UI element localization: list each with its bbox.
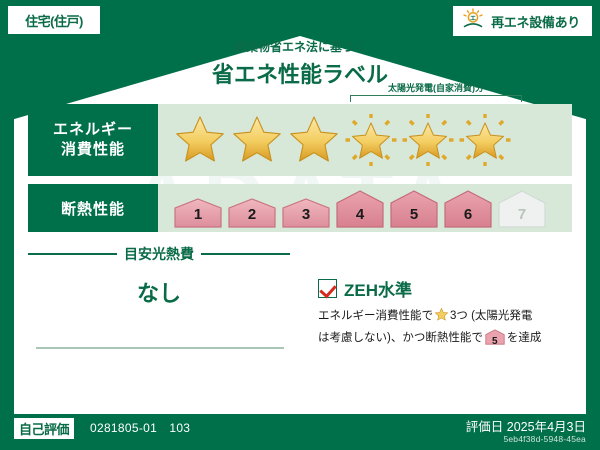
section-vertical-divider [304, 236, 306, 386]
star-solid [172, 112, 228, 168]
insulation-level-scale: 1 2 3 [164, 184, 566, 232]
zeh-title: ZEH水準 [344, 276, 412, 301]
energy-label-line2: 消費性能 [53, 140, 133, 160]
evaluation-date: 評価日 2025年4月3日 [466, 416, 586, 435]
insulation-level-number: 7 [496, 206, 548, 223]
solar-sun-icon: エ [461, 8, 485, 35]
insulation-level-3: 3 [280, 197, 332, 229]
insulation-level-number: 4 [334, 206, 386, 223]
housing-type-tag: 住宅(住戸) [8, 6, 100, 34]
insulation-level-2: 2 [226, 197, 278, 229]
insulation-level-number: 2 [226, 206, 278, 223]
svg-text:エ: エ [470, 15, 476, 22]
renewable-energy-badge: エ 再エネ設備あり [453, 6, 592, 36]
energy-rating-panel: 太陽光発電(自家消費)分 [158, 104, 572, 176]
zeh-text-part1: エネルギー消費性能で [318, 310, 433, 322]
insulation-performance-label: 断熱性能 [28, 184, 158, 232]
label-content: エネルギー 消費性能 太陽光発電(自家消費)分 [14, 36, 586, 414]
zeh-description: エネルギー消費性能で3つ (太陽光発電は考慮しない)、かつ断熱性能で5を達成 [318, 307, 572, 352]
star-solar [343, 112, 399, 168]
insulation-level-6: 6 [442, 189, 494, 229]
zeh-text-part3: は考慮しない)、かつ断熱性能で [318, 332, 483, 344]
solar-generation-bracket: 太陽光発電(自家消費)分 [350, 84, 522, 102]
evaluation-hash: 5eb4f38d-5948-45ea [503, 434, 586, 444]
energy-performance-label: エネルギー 消費性能 [28, 104, 158, 176]
inline-badge-number: 5 [485, 334, 505, 351]
utility-cost-label: 目安光熱費 [124, 244, 194, 264]
insulation-level-1: 1 [172, 197, 224, 229]
utility-cost-value: なし [28, 276, 290, 308]
zeh-heading: ZEH水準 [318, 276, 572, 301]
inline-insulation-badge: 5 [485, 329, 505, 352]
zeh-text-part4: を達成 [507, 332, 542, 344]
insulation-level-4: 4 [334, 189, 386, 229]
insulation-level-7: 7 [496, 189, 548, 229]
zeh-checkbox [318, 279, 337, 298]
insulation-rating-panel: 1 2 3 [158, 184, 572, 232]
renewable-badge-label: 再エネ設備あり [491, 12, 580, 31]
self-evaluation-badge: 自己評価 [14, 418, 74, 439]
star-solid [229, 112, 285, 168]
utility-cost-heading: 目安光熱費 [28, 244, 290, 264]
evaluation-date-label: 評価日 [466, 420, 504, 434]
label-footer: 自己評価 0281805-01 103 評価日 2025年4月3日 5eb4f3… [0, 414, 600, 450]
star-solid [286, 112, 342, 168]
energy-label-line1: エネルギー [53, 120, 133, 140]
insulation-level-5: 5 [388, 189, 440, 229]
insulation-level-number: 1 [172, 206, 224, 223]
solar-bracket-label: 太陽光発電(自家消費)分 [350, 84, 522, 93]
heading-rule-right [201, 253, 290, 255]
star-solar [457, 112, 513, 168]
zeh-text-part2: 3つ (太陽光発電 [450, 310, 532, 322]
insulation-level-number: 3 [280, 206, 332, 223]
insulation-performance-row: 断熱性能 1 2 [28, 184, 572, 232]
inline-star-icon [434, 307, 449, 329]
evaluation-date-value: 2025年4月3日 [507, 420, 586, 434]
heading-rule-left [28, 253, 117, 255]
utility-cost-divider [36, 347, 284, 349]
energy-performance-row: エネルギー 消費性能 太陽光発電(自家消費)分 [28, 104, 572, 176]
zeh-standard-block: ZEH水準 エネルギー消費性能で3つ (太陽光発電は考慮しない)、かつ断熱性能で… [318, 276, 572, 352]
energy-star-rating [164, 104, 566, 176]
solar-bracket-line [350, 95, 522, 102]
insulation-level-number: 6 [442, 206, 494, 223]
evaluation-number: 0281805-01 103 [90, 419, 190, 436]
insulation-level-number: 5 [388, 206, 440, 223]
star-solar [400, 112, 456, 168]
